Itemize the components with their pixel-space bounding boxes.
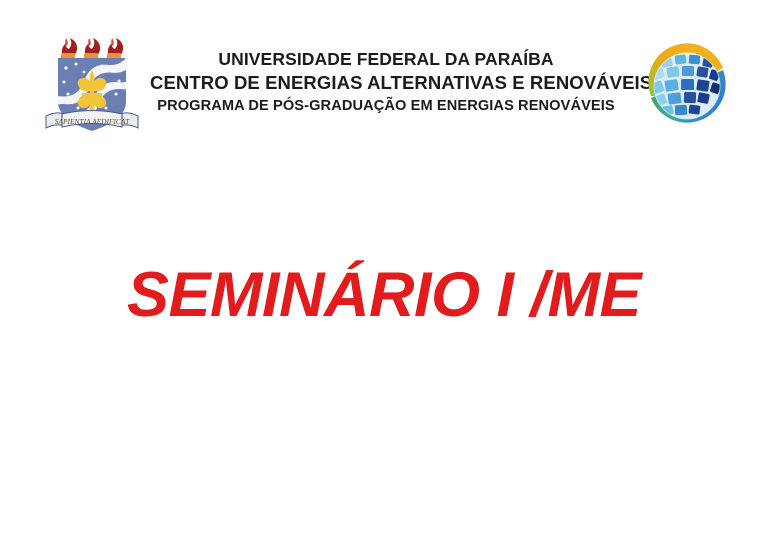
motto-banner: SAPIENTIA AEDIFICAT <box>46 111 138 129</box>
institution-line-1: UNIVERSIDADE FEDERAL DA PARAÍBA <box>150 48 622 71</box>
slide-title: SEMINÁRIO I /ME <box>127 262 641 328</box>
motto-text: SAPIENTIA AEDIFICAT <box>55 117 130 126</box>
ppger-globe-logo-icon <box>627 34 745 140</box>
title-block: SEMINÁRIO I /ME <box>0 262 768 328</box>
ufpb-coat-of-arms-icon: SAPIENTIA AEDIFICAT <box>40 24 144 138</box>
institution-line-2: CENTRO DE ENERGIAS ALTERNATIVAS E RENOVÁ… <box>150 71 622 95</box>
slide-header: SAPIENTIA AEDIFICAT UNIVERSIDADE FEDERAL… <box>0 0 768 150</box>
institution-line-3: PROGRAMA DE PÓS-GRADUAÇÃO EM ENERGIAS RE… <box>150 95 622 117</box>
slide-body-area <box>0 360 768 542</box>
institution-header: UNIVERSIDADE FEDERAL DA PARAÍBA CENTRO D… <box>150 48 622 117</box>
presentation-slide: SAPIENTIA AEDIFICAT UNIVERSIDADE FEDERAL… <box>0 0 768 542</box>
